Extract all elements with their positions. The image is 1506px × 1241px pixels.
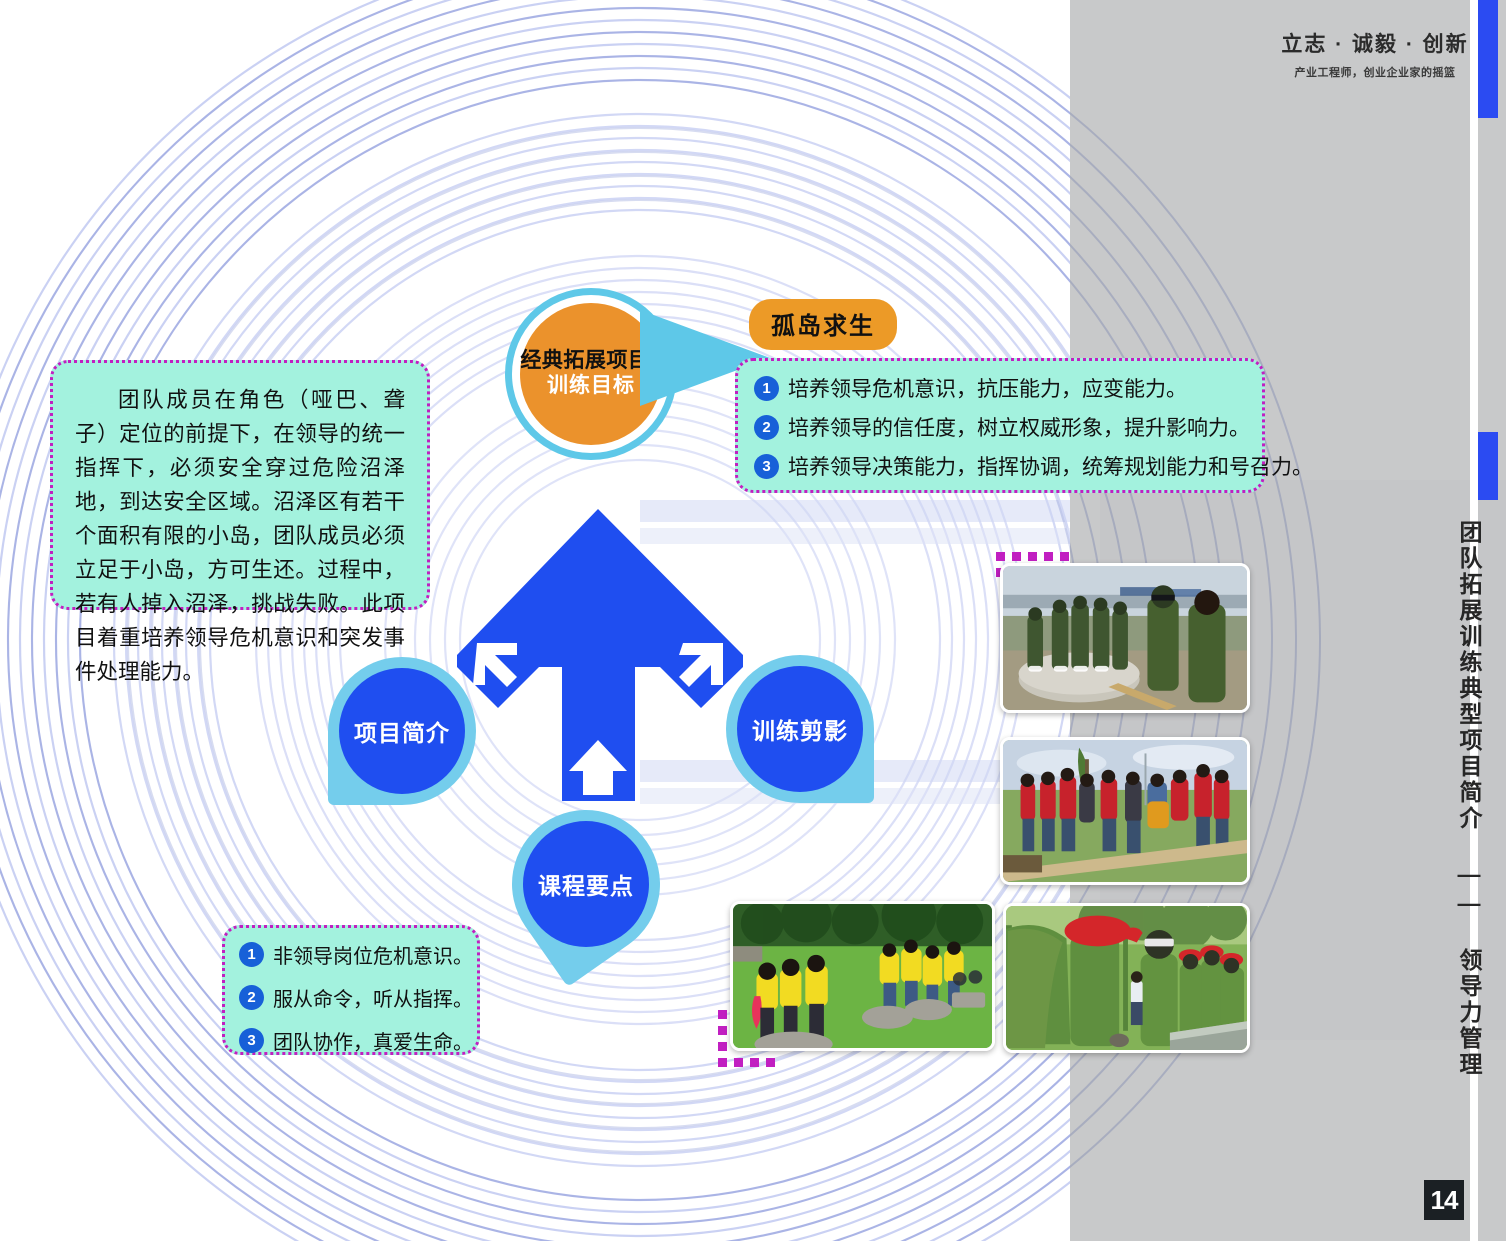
photo-camouflage-platform[interactable] [1000,563,1250,713]
photo-camouflage-redcap-art [1006,906,1247,1050]
satellite-disc: 训练剪影 [737,666,863,792]
satellite-label: 训练剪影 [752,712,848,746]
sidebar-item-project-intro[interactable]: 项目简介 [328,657,476,805]
goal-item: 3 培养领导决策能力，指挥协调，统筹规划能力和号召力。 [754,451,1248,481]
sidebar-item-training-clips[interactable]: 训练剪影 [726,655,874,803]
header-title: 立志 · 诚毅 · 创新 [1280,28,1470,58]
hub-title-line2: 训练目标 [547,374,635,398]
satellite-disc: 课程要点 [523,821,649,947]
project-name-pill[interactable]: 孤岛求生 [749,299,897,350]
key-point-item: 3 团队协作，真爱生命。 [239,1026,467,1055]
photo-camouflage-redcap[interactable] [1003,903,1250,1053]
poster-page: 立志 · 诚毅 · 创新 产业工程师，创业企业家的摇篮 团队拓展训练典型项目简介… [0,0,1506,1241]
photo-red-jackets-beam-art [1003,740,1247,882]
goal-text: 培养领导的信任度，树立权威形象，提升影响力。 [788,412,1250,442]
satellite-label: 课程要点 [538,867,634,901]
satellite-disc: 项目简介 [339,668,465,794]
photo-red-jackets-beam[interactable] [1000,737,1250,885]
key-point-text: 服从命令，听从指挥。 [273,983,473,1012]
goal-item: 1 培养领导危机意识，抗压能力，应变能力。 [754,373,1248,403]
key-point-item: 1 非领导岗位危机意识。 [239,940,467,969]
key-point-text: 非领导岗位危机意识。 [273,940,473,969]
project-intro-text: 团队成员在角色（哑巴、聋子）定位的前提下，在领导的统一指挥下，必须安全穿过危险沼… [75,383,405,689]
side-vertical-title: 团队拓展训练典型项目简介 —— 领导力管理 [1452,520,1486,1078]
key-point-number-badge: 3 [239,1028,264,1053]
key-points-box: 1 非领导岗位危机意识。 2 服从命令，听从指挥。 3 团队协作，真爱生命。 [222,925,480,1055]
goal-text: 培养领导危机意识，抗压能力，应变能力。 [788,373,1187,403]
project-intro-box: 团队成员在角色（哑巴、聋子）定位的前提下，在领导的统一指挥下，必须安全穿过危险沼… [50,360,430,610]
photo-camouflage-platform-art [1003,566,1247,710]
photo-yellow-shirts-island[interactable] [730,901,995,1051]
key-point-number-badge: 1 [239,942,264,967]
goal-number-badge: 1 [754,376,779,401]
satellite-label: 项目简介 [354,714,450,748]
blue-tab-middle [1478,432,1498,500]
header-subtitle: 产业工程师，创业企业家的摇篮 [1280,64,1470,80]
header-block: 立志 · 诚毅 · 创新 产业工程师，创业企业家的摇篮 [1280,28,1470,80]
key-point-text: 团队协作，真爱生命。 [273,1026,473,1055]
photo-yellow-shirts-island-art [733,904,992,1048]
key-point-item: 2 服从命令，听从指挥。 [239,983,467,1012]
goal-text: 培养领导决策能力，指挥协调，统筹规划能力和号召力。 [788,451,1313,481]
goal-number-badge: 3 [754,454,779,479]
page-number: 14 [1424,1180,1464,1220]
training-goals-box: 1 培养领导危机意识，抗压能力，应变能力。 2 培养领导的信任度，树立权威形象，… [735,358,1265,493]
sidebar-item-key-points[interactable]: 课程要点 [512,810,660,958]
blue-tab-top [1478,0,1498,118]
goal-item: 2 培养领导的信任度，树立权威形象，提升影响力。 [754,412,1248,442]
goal-number-badge: 2 [754,415,779,440]
big-up-arrow-icon [455,495,745,815]
key-point-number-badge: 2 [239,985,264,1010]
